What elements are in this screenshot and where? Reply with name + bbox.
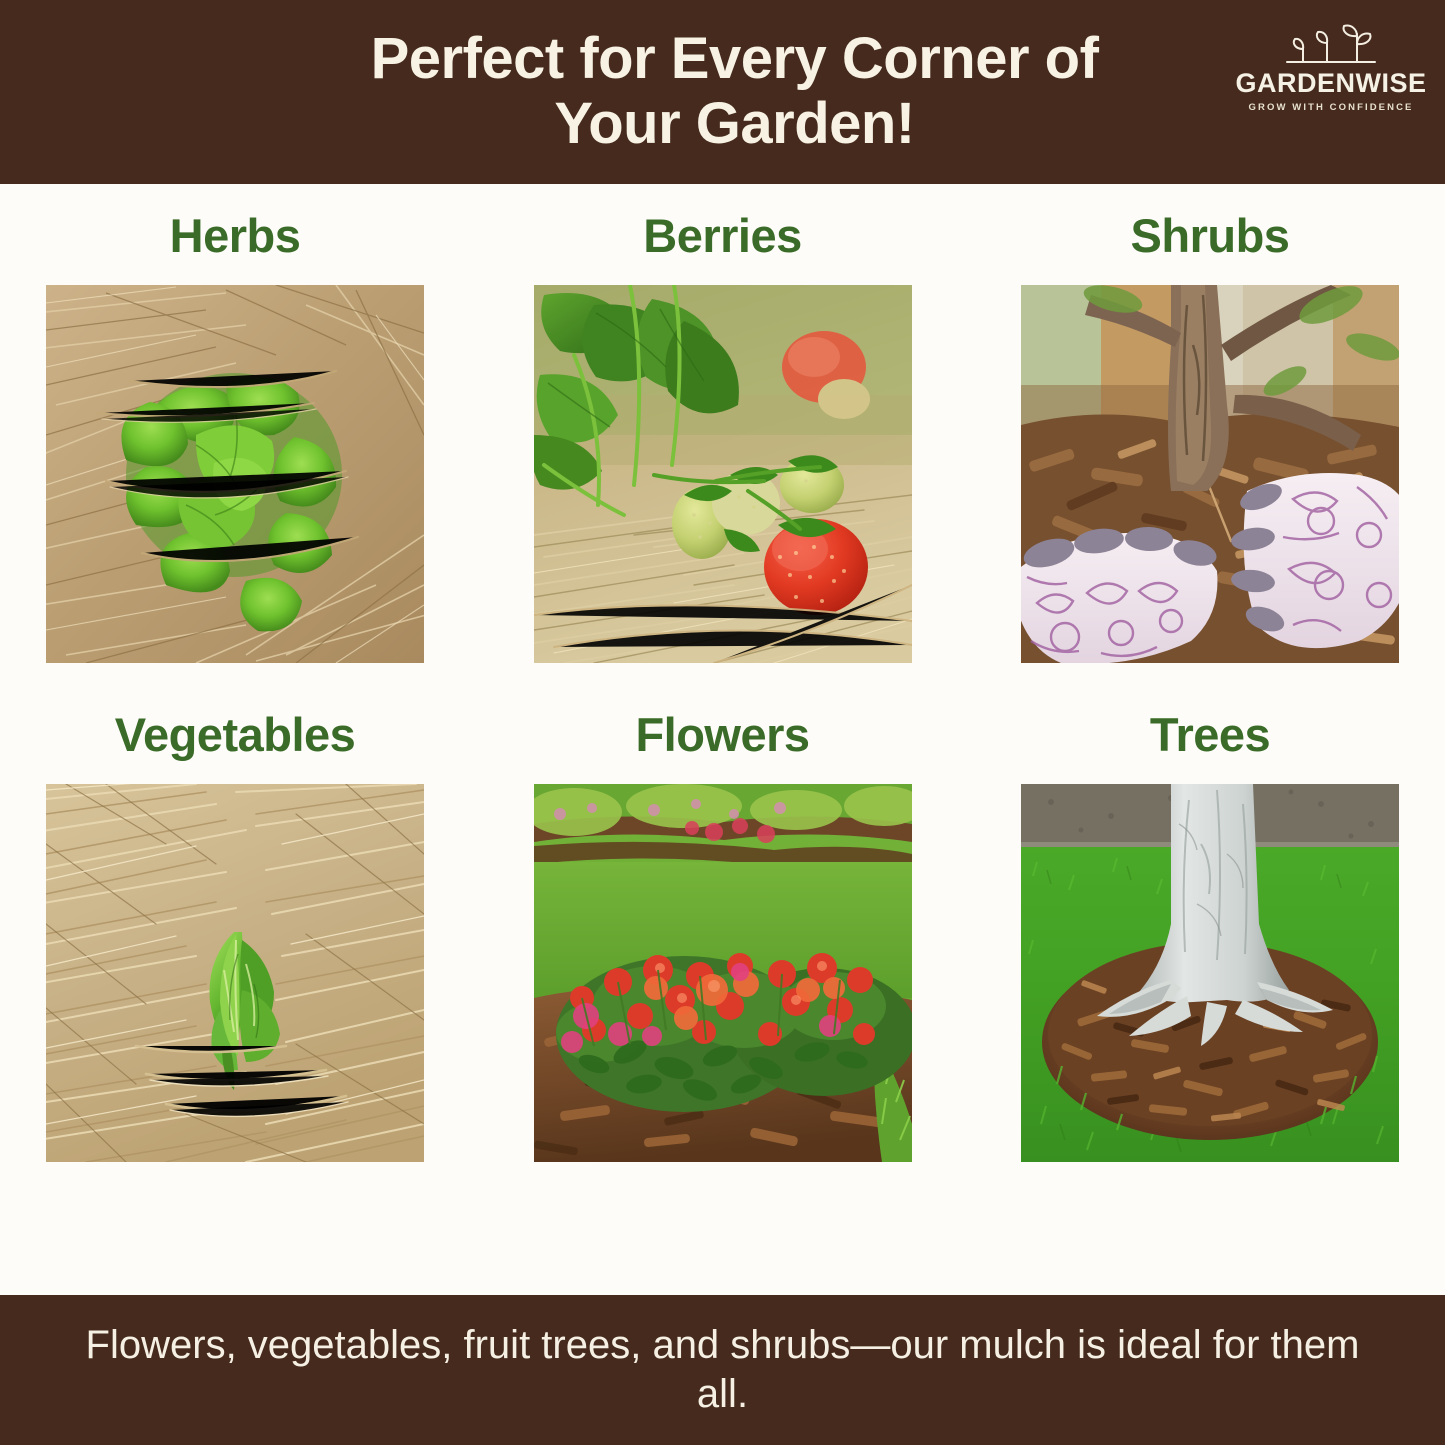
page-title-line-2: Your Garden! xyxy=(205,92,1265,157)
flowers-photo xyxy=(534,784,912,1162)
category-cell-berries: Berries xyxy=(534,212,912,663)
category-label-herbs: Herbs xyxy=(46,212,424,259)
footer-caption-line-1: Flowers, vegetables, fruit trees, and sh… xyxy=(86,1323,1106,1367)
category-label-flowers: Flowers xyxy=(534,711,912,758)
shrubs-photo xyxy=(1021,285,1399,663)
trees-photo xyxy=(1021,784,1399,1162)
herbs-photo xyxy=(46,285,424,663)
vegetables-photo-graphic xyxy=(46,784,424,1162)
category-cell-herbs: Herbs xyxy=(46,212,424,663)
category-label-vegetables: Vegetables xyxy=(46,711,424,758)
trees-photo-graphic xyxy=(1021,784,1399,1162)
category-cell-flowers: Flowers xyxy=(534,711,912,1162)
category-cell-trees: Trees xyxy=(1021,711,1399,1162)
berries-photo xyxy=(534,285,912,663)
category-cell-shrubs: Shrubs xyxy=(1021,212,1399,663)
category-label-shrubs: Shrubs xyxy=(1021,212,1399,259)
category-label-berries: Berries xyxy=(534,212,912,259)
footer-band: Flowers, vegetables, fruit trees, and sh… xyxy=(0,1295,1445,1445)
poster: Perfect for Every Corner of Your Garden!… xyxy=(0,0,1445,1445)
header-band: Perfect for Every Corner of Your Garden!… xyxy=(0,0,1445,184)
category-grid: Herbs xyxy=(0,184,1445,1295)
category-label-trees: Trees xyxy=(1021,711,1399,758)
flowers-photo-graphic xyxy=(534,784,912,1162)
berries-photo-graphic xyxy=(534,285,912,663)
brand-logo: GARDENWISE GROW WITH CONFIDENCE xyxy=(1235,22,1427,113)
vegetables-photo xyxy=(46,784,424,1162)
shrubs-photo-graphic xyxy=(1021,285,1399,663)
three-sprouts-icon xyxy=(1271,22,1391,68)
footer-caption: Flowers, vegetables, fruit trees, and sh… xyxy=(70,1321,1375,1419)
page-title-line-1: Perfect for Every Corner of xyxy=(205,27,1265,92)
category-row-2: Vegetables xyxy=(46,711,1399,1162)
category-row-1: Herbs xyxy=(46,212,1399,663)
brand-name: GARDENWISE xyxy=(1235,70,1427,97)
category-cell-vegetables: Vegetables xyxy=(46,711,424,1162)
page-title: Perfect for Every Corner of Your Garden! xyxy=(205,27,1265,157)
brand-tagline: GROW WITH CONFIDENCE xyxy=(1235,102,1427,113)
herbs-photo-graphic xyxy=(46,285,424,663)
